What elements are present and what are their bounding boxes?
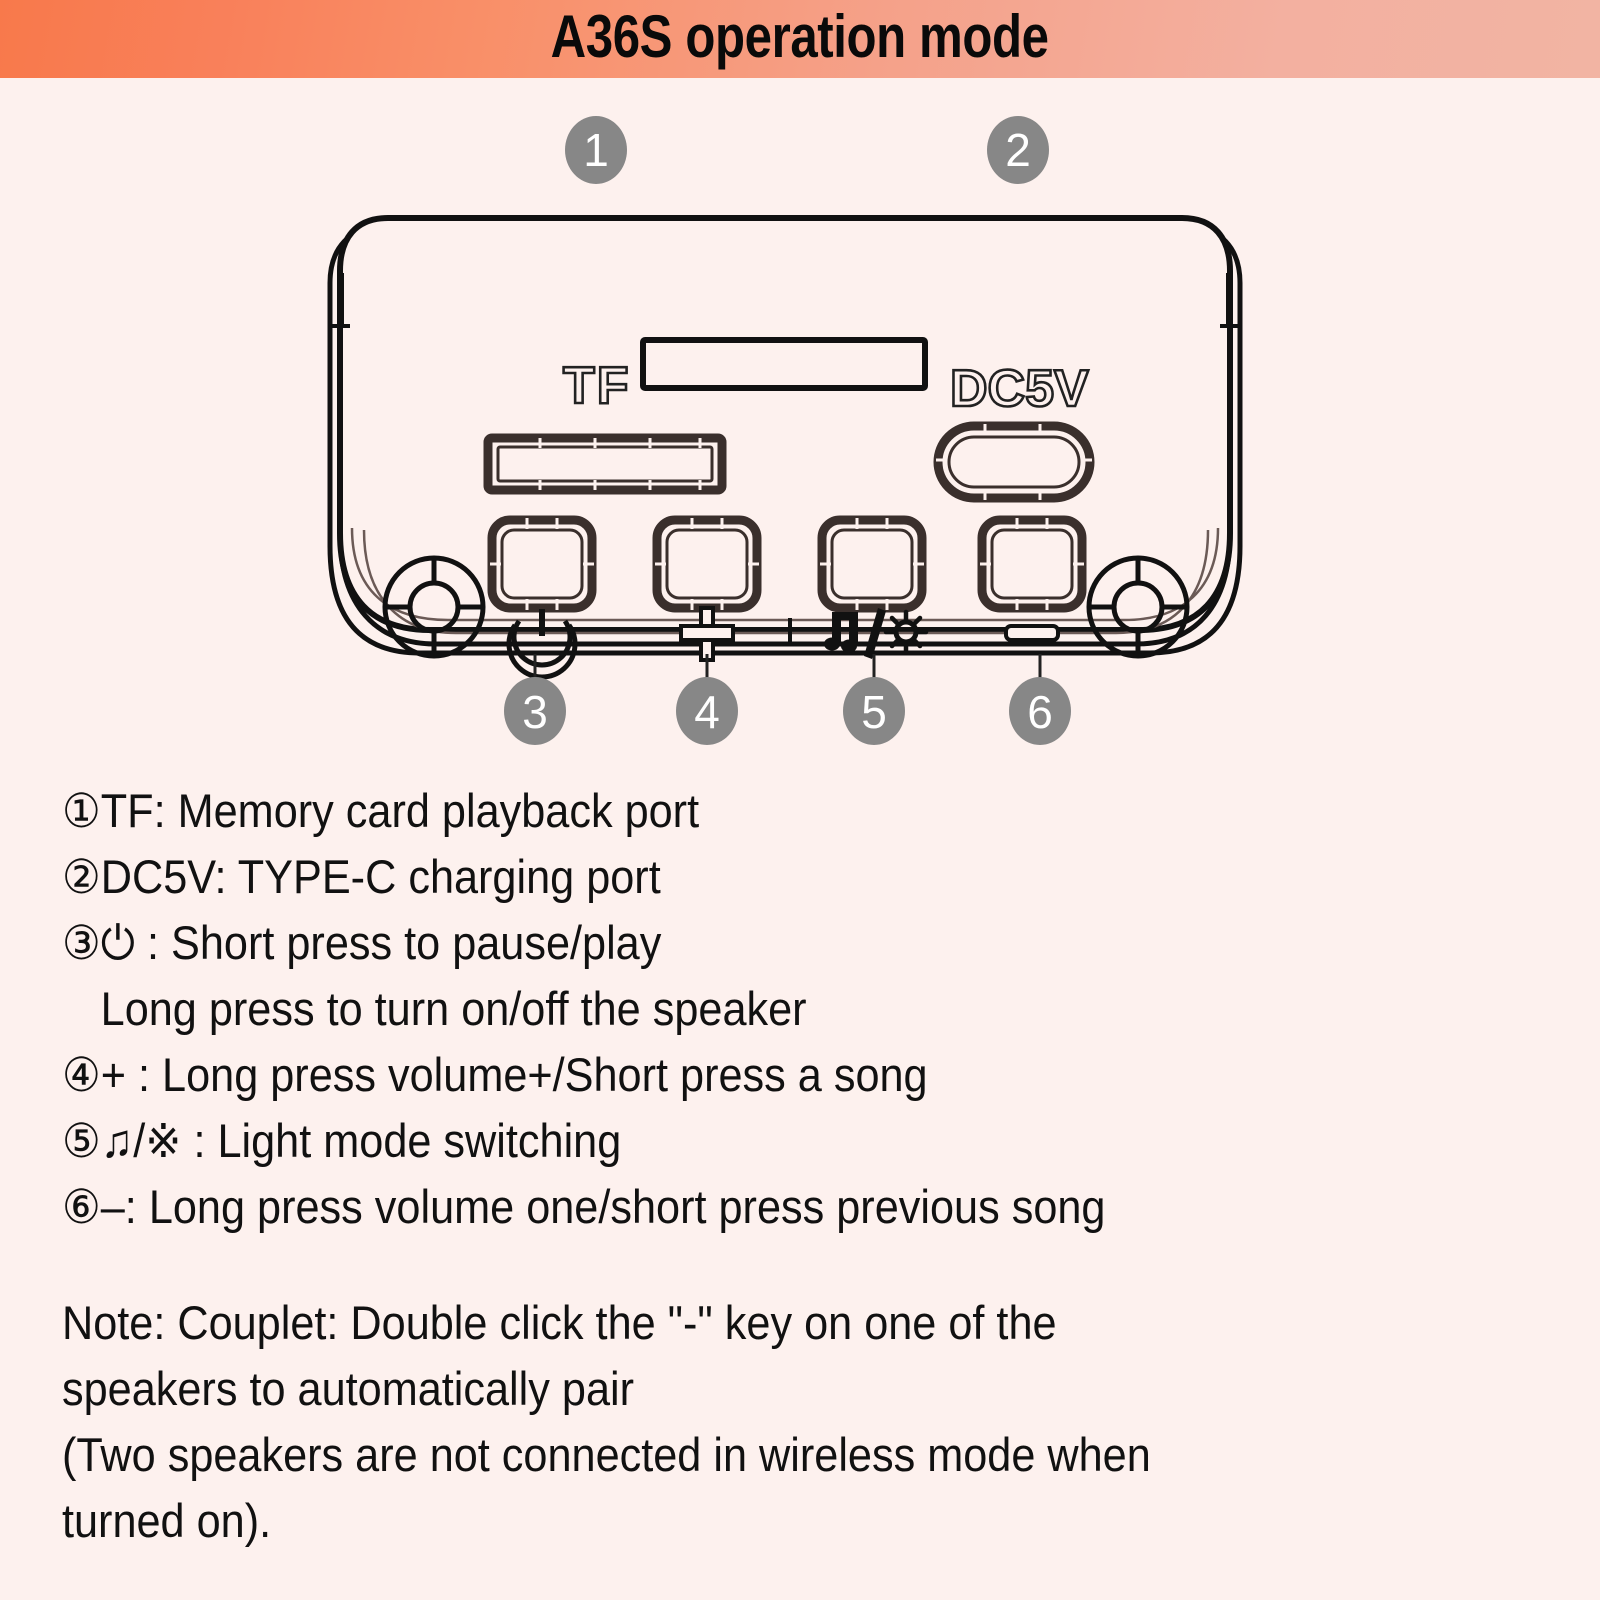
legend-item-2: ②DC5V: TYPE-C charging port [62, 844, 1442, 910]
callout-6-number: 6 [1027, 686, 1053, 738]
tf-slot-label: TF [563, 357, 631, 415]
legend-item-5-text: ⑤♫/※ : Light mode switching [62, 1114, 621, 1167]
device-body [330, 218, 1240, 653]
legend-item-5: ⑤♫/※ : Light mode switching [62, 1108, 1442, 1174]
note-line-4: turned on). [62, 1488, 1442, 1554]
note-line-1: Note: Couplet: Double click the "-" key … [62, 1290, 1442, 1356]
minus-button[interactable] [980, 518, 1084, 610]
header-banner: A36S operation mode [0, 0, 1600, 78]
legend-item-1: ①TF: Memory card playback port [62, 778, 1442, 844]
legend-item-2-text: ②DC5V: TYPE-C charging port [62, 850, 661, 903]
callout-2-number: 2 [1005, 124, 1031, 176]
note-line-3: (Two speakers are not connected in wirel… [62, 1422, 1442, 1488]
tf-card-slot [488, 438, 722, 490]
legend-item-6: ⑥–: Long press volume one/short press pr… [62, 1174, 1442, 1240]
dc5v-port-label: DC5V [950, 360, 1089, 418]
page-title: A36S operation mode [551, 7, 1049, 71]
callout-5-number: 5 [861, 686, 887, 738]
device-diagram: 1 2 TF [0, 78, 1600, 768]
instructions-section: ①TF: Memory card playback port ②DC5V: TY… [62, 778, 1562, 1554]
legend-item-3-text: ③⏻ : Short press to pause/play [62, 916, 661, 969]
callout-3: 3 [504, 654, 566, 745]
power-button[interactable] [490, 518, 594, 610]
note-line-2: speakers to automatically pair [62, 1356, 1442, 1422]
legend-item-4: ④+ : Long press volume+/Short press a so… [62, 1042, 1442, 1108]
callout-6: 6 [1009, 654, 1071, 745]
legend-item-3-continuation-text: Long press to turn on/off the speaker [101, 982, 807, 1035]
note-section: Note: Couplet: Double click the "-" key … [62, 1290, 1442, 1554]
legend-item-1-text: ①TF: Memory card playback port [62, 784, 699, 837]
legend-item-3: ③⏻ : Short press to pause/play [62, 910, 1442, 976]
legend-item-6-text: ⑥–: Long press volume one/short press pr… [62, 1180, 1105, 1233]
callout-3-number: 3 [522, 686, 548, 738]
callout-4: 4 [676, 654, 738, 745]
minus-icon [1006, 626, 1058, 640]
plus-button[interactable] [655, 518, 759, 610]
callout-1-number: 1 [583, 124, 609, 176]
callout-5: 5 [843, 654, 905, 745]
light-mode-button[interactable] [820, 518, 924, 610]
legend-item-4-text: ④+ : Long press volume+/Short press a so… [62, 1048, 928, 1101]
callout-4-number: 4 [694, 686, 720, 738]
legend-item-3-continuation: Long press to turn on/off the speaker [62, 976, 1442, 1042]
